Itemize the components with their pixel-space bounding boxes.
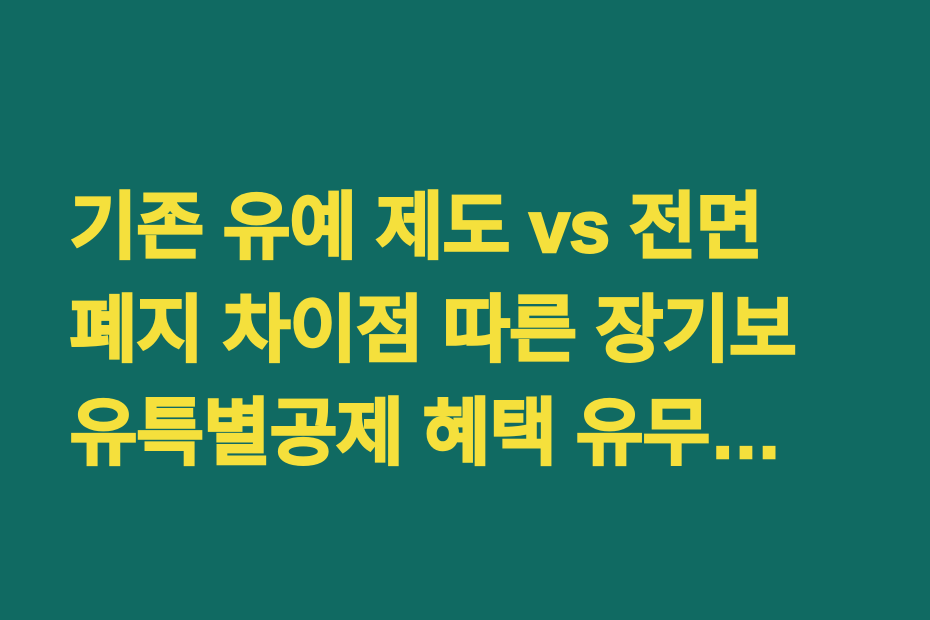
title-block: 기존 유예 제도 vs 전면 폐지 차이점 따른 장기보 유특별공제 혜택 유무… [70, 176, 870, 485]
title-line-2: 폐지 차이점 따른 장기보 [70, 279, 870, 382]
title-line-1: 기존 유예 제도 vs 전면 [70, 176, 870, 279]
title-line-3: 유특별공제 혜택 유무… [70, 382, 870, 485]
thumbnail-card: 기존 유예 제도 vs 전면 폐지 차이점 따른 장기보 유특별공제 혜택 유무… [0, 0, 930, 620]
